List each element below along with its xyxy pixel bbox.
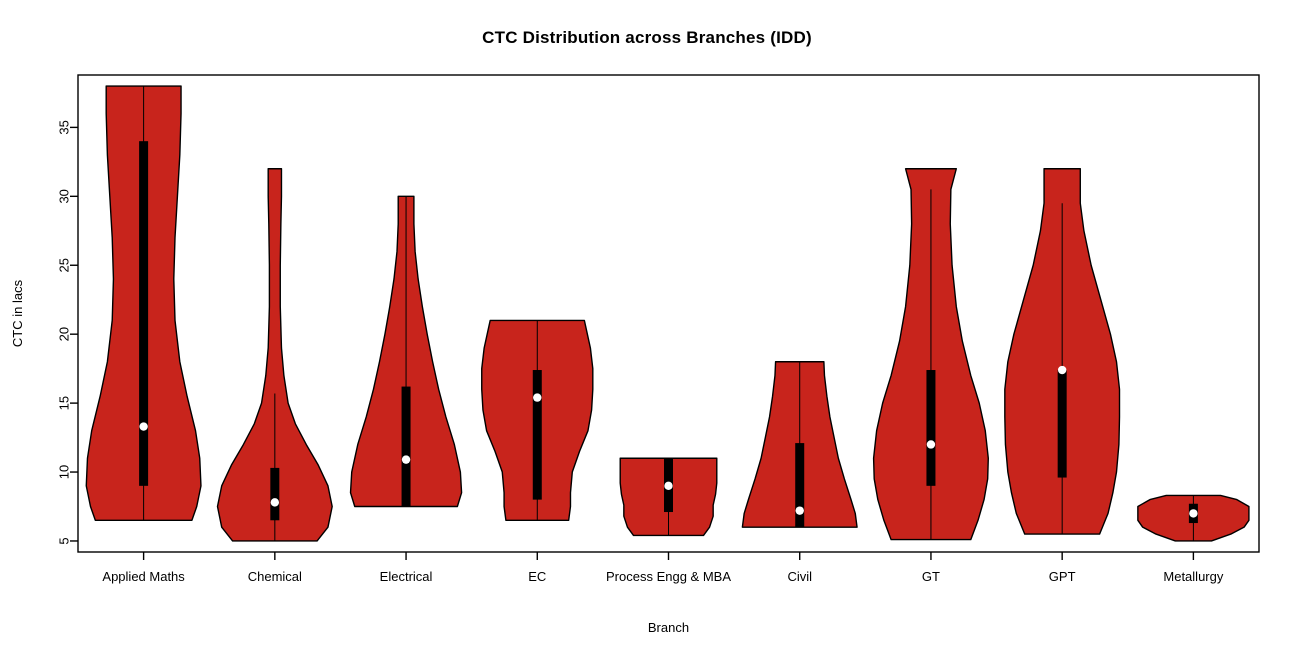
violin-plot-figure: CTC Distribution across Branches (IDD) 5… — [0, 0, 1294, 653]
median-marker — [1189, 509, 1197, 517]
y-tick-label: 5 — [57, 537, 72, 544]
x-tick-label-gpt: GPT — [1049, 569, 1076, 584]
violin-metallurgy — [1138, 495, 1249, 540]
iqr-box — [402, 387, 411, 507]
y-axis-title: CTC in lacs — [10, 279, 25, 347]
violin-ec — [482, 320, 593, 520]
y-tick-label: 20 — [57, 327, 72, 341]
x-tick-label-electrical: Electrical — [380, 569, 433, 584]
x-axis-title: Branch — [648, 620, 689, 635]
median-marker — [139, 422, 147, 430]
y-tick-label: 35 — [57, 120, 72, 134]
iqr-box — [139, 141, 148, 486]
median-marker — [533, 393, 541, 401]
x-tick-label-metallurgy: Metallurgy — [1163, 569, 1223, 584]
iqr-box — [533, 370, 542, 500]
median-marker — [796, 506, 804, 514]
violin-civil — [742, 362, 857, 527]
x-tick-label-gt: GT — [922, 569, 940, 584]
y-tick-label: 25 — [57, 258, 72, 272]
x-tick-label-process-engg-mba: Process Engg & MBA — [606, 569, 731, 584]
violin-gt — [874, 169, 989, 540]
median-marker — [1058, 366, 1066, 374]
x-tick-label-applied-maths: Applied Maths — [102, 569, 185, 584]
median-marker — [664, 482, 672, 490]
y-tick-label: 10 — [57, 465, 72, 479]
y-tick-label: 30 — [57, 189, 72, 203]
x-tick-label-ec: EC — [528, 569, 546, 584]
median-marker — [271, 498, 279, 506]
median-marker — [927, 440, 935, 448]
median-marker — [402, 455, 410, 463]
violin-series-layer — [86, 86, 1249, 541]
violin-gpt — [1005, 169, 1120, 534]
iqr-box — [926, 370, 935, 486]
iqr-box — [1058, 370, 1067, 478]
x-tick-label-civil: Civil — [787, 569, 812, 584]
chart-canvas: 5101520253035Applied MathsChemicalElectr… — [0, 0, 1294, 653]
x-tick-label-chemical: Chemical — [248, 569, 302, 584]
violin-applied-maths — [86, 86, 201, 520]
violin-process-engg-mba — [620, 458, 717, 535]
y-tick-label: 15 — [57, 396, 72, 410]
iqr-box — [270, 468, 279, 520]
violin-chemical — [217, 169, 332, 541]
violin-electrical — [351, 196, 462, 506]
